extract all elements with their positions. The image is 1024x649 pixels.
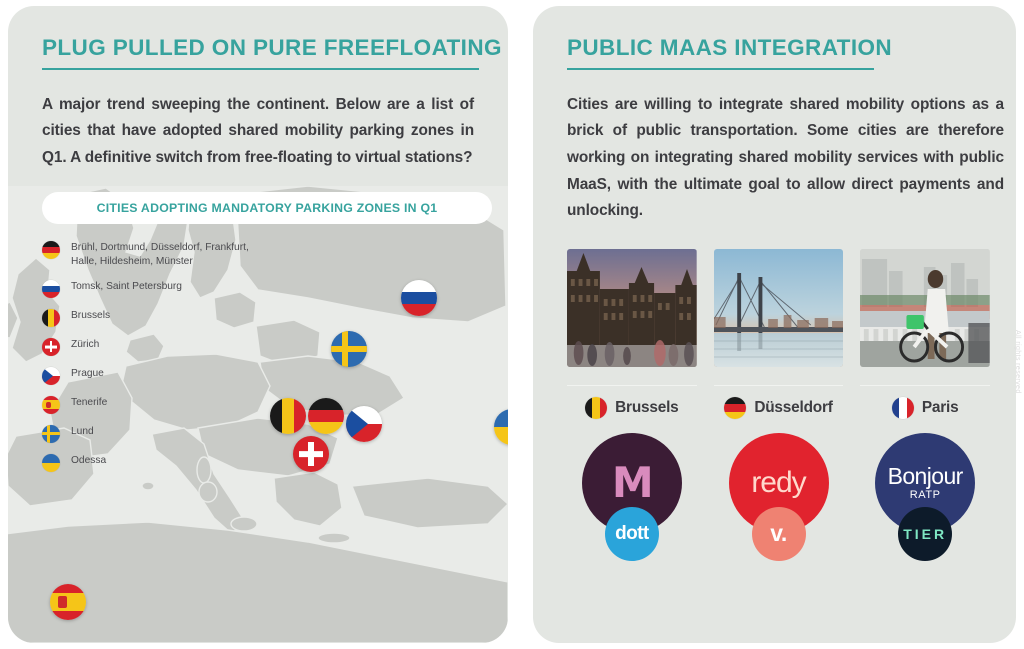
operator-logo-row: M dott redy v. Bonjour — [567, 433, 990, 563]
city-photo-row — [567, 249, 990, 367]
city-label-paris: Paris — [860, 385, 990, 419]
dott-logo[interactable]: dott — [605, 507, 659, 561]
map-pin-spain[interactable] — [50, 584, 86, 625]
left-panel-body: A major trend sweeping the continent. Be… — [42, 92, 474, 172]
list-item: Odessa — [42, 453, 482, 473]
city-label-row: Brussels Düsseldorf Paris — [567, 385, 990, 419]
list-item-cities: Tenerife — [71, 395, 107, 410]
list-item-cities: Brussels — [71, 308, 110, 323]
dusseldorf-logos: redy v. — [714, 433, 844, 563]
infographic-page: PLUG PULLED ON PURE FREEFLOATING A major… — [0, 0, 1024, 649]
city-label-dusseldorf: Düsseldorf — [714, 385, 844, 419]
dusseldorf-rheinkniebrucke-photo — [714, 249, 844, 367]
flag-czechia-icon — [42, 367, 60, 385]
right-panel-body: Cities are willing to integrate shared m… — [567, 92, 1004, 225]
brussels-logos: M dott — [567, 433, 697, 563]
left-heading-underline — [42, 68, 479, 70]
stib-mivb-logo-text: M — [612, 462, 652, 504]
list-item-cities: Prague — [71, 366, 104, 381]
list-item-cities: Tomsk, Saint Petersburg — [71, 279, 182, 294]
right-panel: PUBLIC MAAS INTEGRATION Cities are willi… — [533, 6, 1016, 643]
list-item: Brühl, Dortmund, Düsseldorf, Frankfurt, … — [42, 240, 482, 270]
list-item-cities: Lund — [71, 424, 94, 439]
voi-logo[interactable]: v. — [752, 507, 806, 561]
flag-germany-icon — [42, 241, 60, 259]
right-heading-underline — [567, 68, 874, 70]
dott-logo-text: dott — [615, 523, 648, 545]
tier-logo[interactable]: TIER — [898, 507, 952, 561]
flag-belgium-icon — [585, 397, 607, 419]
flag-germany-icon — [724, 397, 746, 419]
left-panel: PLUG PULLED ON PURE FREEFLOATING A major… — [8, 6, 508, 643]
flag-spain-icon — [42, 396, 60, 414]
redy-logo-text: redy — [751, 466, 805, 500]
list-item-cities: Odessa — [71, 453, 106, 468]
paris-ebike-rider-photo — [860, 249, 990, 367]
parking-zones-banner-label: CITIES ADOPTING MANDATORY PARKING ZONES … — [97, 201, 438, 215]
bonjour-ratp-logo-subtext: RATP — [910, 489, 941, 501]
flag-switzerland-icon — [42, 338, 60, 356]
country-city-list: Brühl, Dortmund, Düsseldorf, Frankfurt, … — [42, 240, 482, 473]
voi-logo-text: v. — [770, 520, 786, 547]
list-item: Lund — [42, 424, 482, 444]
list-item: Tomsk, Saint Petersburg — [42, 279, 482, 299]
flag-belgium-icon — [42, 309, 60, 327]
bonjour-ratp-logo-text: Bonjour — [888, 465, 963, 488]
right-panel-heading: PUBLIC MAAS INTEGRATION — [567, 36, 990, 61]
city-label-brussels: Brussels — [567, 385, 697, 419]
list-item: Zürich — [42, 337, 482, 357]
city-name: Brussels — [615, 399, 678, 417]
left-panel-heading: PLUG PULLED ON PURE FREEFLOATING — [42, 36, 482, 61]
tier-logo-text: TIER — [903, 526, 947, 542]
brussels-grand-place-photo — [567, 249, 697, 367]
flag-sweden-icon — [42, 425, 60, 443]
parking-zones-banner: CITIES ADOPTING MANDATORY PARKING ZONES … — [42, 192, 492, 224]
list-item: Prague — [42, 366, 482, 386]
list-item-cities: Brühl, Dortmund, Düsseldorf, Frankfurt, … — [71, 240, 271, 270]
flag-russia-icon — [42, 280, 60, 298]
city-name: Paris — [922, 399, 959, 417]
city-name: Düsseldorf — [754, 399, 832, 417]
paris-logos: Bonjour RATP TIER — [860, 433, 990, 563]
copyright-watermark: All rights reserved — [1014, 330, 1021, 394]
flag-ukraine-icon — [42, 454, 60, 472]
list-item: Brussels — [42, 308, 482, 328]
list-item-cities: Zürich — [71, 337, 99, 352]
flag-france-icon — [892, 397, 914, 419]
list-item: Tenerife — [42, 395, 482, 415]
map-pin-spain-icon — [50, 584, 86, 620]
